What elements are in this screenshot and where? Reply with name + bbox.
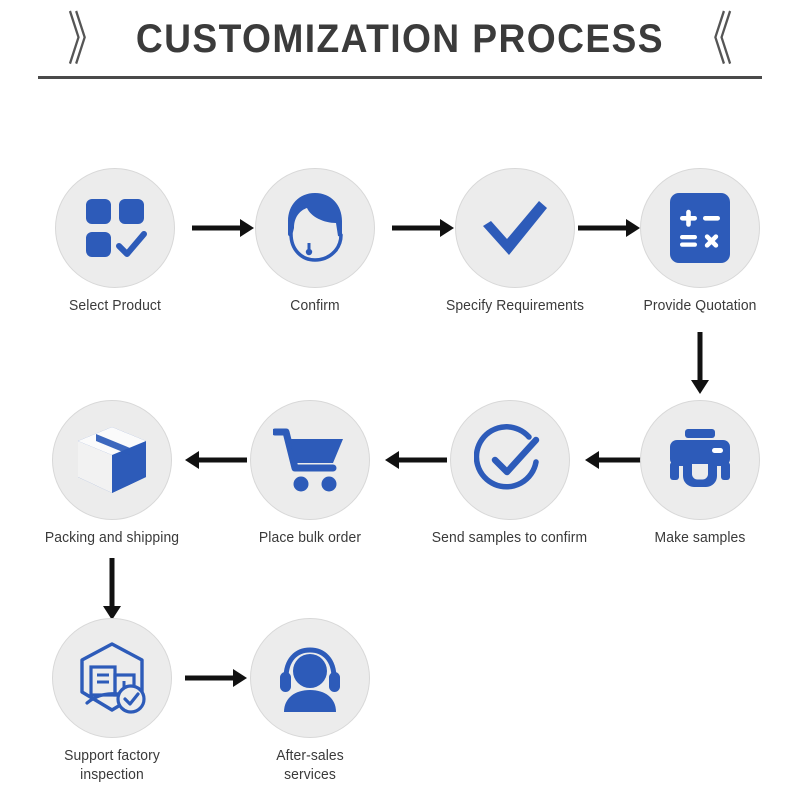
process-step-support-factory-inspection[interactable]: Support factory inspection	[50, 618, 174, 784]
page-title-text: CUSTOMIZATION PROCESS	[136, 17, 664, 62]
arrow-step6-to-step7	[385, 448, 447, 472]
factory-inspection-shield-icon	[75, 641, 149, 715]
chevron-left-decoration-icon: 《	[693, 10, 732, 68]
process-step-place-bulk-order[interactable]: Place bulk order	[248, 400, 372, 548]
process-step-after-sales-services[interactable]: After-sales services	[248, 618, 372, 784]
arrow-step7-to-step8	[185, 448, 247, 472]
arrow-step8-to-step9	[100, 558, 124, 620]
step-icon-bubble	[250, 618, 370, 738]
step-icon-bubble	[640, 168, 760, 288]
circle-check-icon	[474, 424, 546, 496]
step-label: Send samples to confirm	[406, 529, 612, 548]
chevron-right-decoration-icon: 》	[68, 10, 107, 68]
step-label: After-sales services	[250, 747, 369, 784]
process-step-select-product[interactable]: Select Product	[53, 168, 177, 316]
headset-person-icon	[274, 644, 346, 712]
process-step-provide-quotation[interactable]: Provide Quotation	[638, 168, 762, 316]
step-label: Support factory inspection	[21, 747, 203, 784]
support-agent-headset-icon	[280, 190, 350, 266]
step-icon-bubble	[450, 400, 570, 520]
step-label: Make samples	[640, 529, 759, 548]
step-label: Place bulk order	[250, 529, 369, 548]
calculator-icon	[669, 192, 731, 264]
step-icon-bubble	[640, 400, 760, 520]
process-step-confirm[interactable]: Confirm	[253, 168, 377, 316]
process-step-make-samples[interactable]: Make samples	[638, 400, 762, 548]
checkmark-icon	[479, 197, 551, 259]
step-icon-bubble	[250, 400, 370, 520]
printer-icon	[665, 428, 735, 492]
step-label: Specify Requirements	[424, 297, 606, 316]
arrow-step3-to-step4	[578, 216, 640, 240]
title-divider	[38, 76, 762, 79]
process-step-packing-and-shipping[interactable]: Packing and shipping	[50, 400, 174, 548]
process-step-send-samples-to-confirm[interactable]: Send samples to confirm	[448, 400, 572, 548]
arrow-step9-to-step10	[185, 666, 247, 690]
product-grid-check-icon	[82, 195, 148, 261]
step-icon-bubble	[255, 168, 375, 288]
step-icon-bubble	[52, 400, 172, 520]
step-label: Select Product	[55, 297, 174, 316]
step-icon-bubble	[52, 618, 172, 738]
step-label: Provide Quotation	[609, 297, 791, 316]
arrow-step4-to-step5	[688, 332, 712, 394]
arrow-step2-to-step3	[392, 216, 454, 240]
shopping-cart-icon	[273, 426, 347, 494]
step-icon-bubble	[55, 168, 175, 288]
arrow-step1-to-step2	[192, 216, 254, 240]
page-header: 》 CUSTOMIZATION PROCESS 《	[0, 0, 800, 92]
step-icon-bubble	[455, 168, 575, 288]
step-label: Confirm	[255, 297, 374, 316]
step-label: Packing and shipping	[21, 529, 203, 548]
process-step-specify-requirements[interactable]: Specify Requirements	[453, 168, 577, 316]
page-title: 》 CUSTOMIZATION PROCESS 《	[0, 10, 800, 68]
package-box-icon	[76, 425, 148, 495]
